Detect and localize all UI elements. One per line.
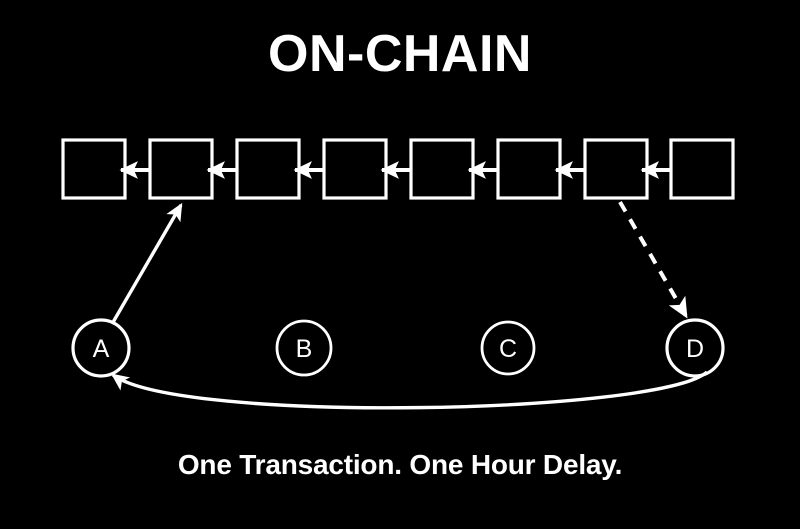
diagram-canvas: ON-CHAIN: [0, 0, 800, 529]
chain-block: [498, 140, 560, 198]
caption-text: One Transaction. One Hour Delay.: [0, 451, 800, 479]
node-b-label: B: [296, 335, 313, 363]
chain-block: [411, 140, 473, 198]
node-a-label: A: [93, 335, 110, 363]
node-d[interactable]: D: [667, 320, 723, 376]
edge-d-to-a: [113, 372, 707, 408]
chain-block: [150, 140, 212, 198]
node-c-label: C: [499, 335, 517, 363]
chain-block: [324, 140, 386, 198]
edge-a-to-chain: [112, 205, 181, 324]
chain-block: [585, 140, 647, 198]
node-c[interactable]: C: [482, 322, 534, 374]
chain-block: [671, 140, 733, 198]
node-d-label: D: [686, 335, 704, 363]
node-a[interactable]: A: [73, 320, 129, 376]
node-b[interactable]: B: [277, 321, 331, 375]
edge-chain-to-d: [620, 202, 686, 316]
chain-block: [63, 140, 125, 198]
participant-nodes: A B C D: [73, 320, 723, 376]
chain-block: [237, 140, 299, 198]
